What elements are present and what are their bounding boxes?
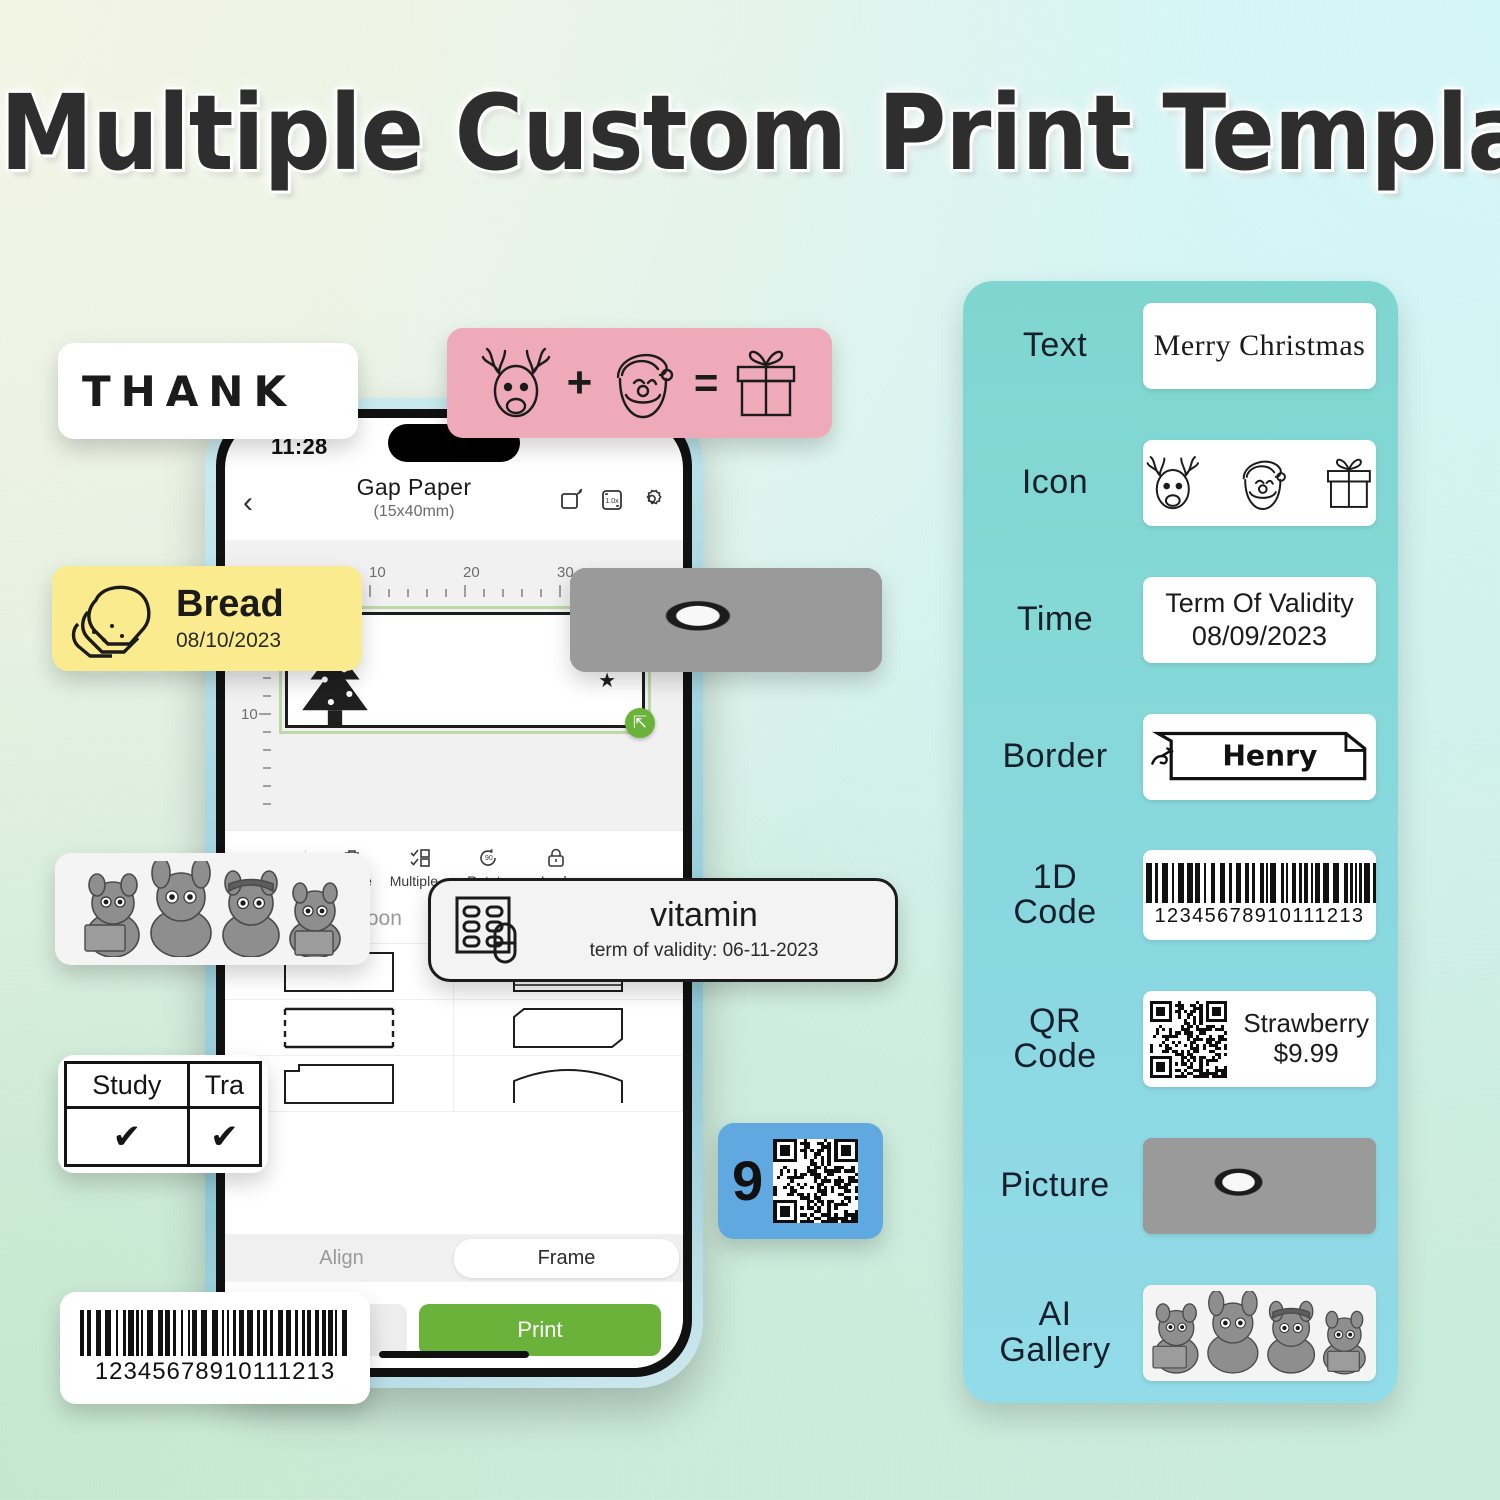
- panel-row-icon: Icon: [981, 440, 1376, 526]
- sticker-ai-gallery: [55, 853, 370, 965]
- time-date: 08/09/2023: [1192, 621, 1327, 652]
- page-title: Multiple Custom Print Templates: [0, 72, 1500, 194]
- panel-label-1d: 1D: [981, 860, 1129, 896]
- frame-shape-tab: [283, 1063, 395, 1105]
- panel-card-border[interactable]: Henry: [1143, 714, 1376, 800]
- barcode-digits: 12345678910111213: [95, 1358, 335, 1386]
- cat-photo-image: [570, 568, 882, 672]
- panel-row-text: Text Merry Christmas: [981, 303, 1376, 389]
- qr-product-name: Strawberry: [1243, 1009, 1369, 1039]
- ruler-tick-v-10: 10: [241, 706, 258, 723]
- segment-align[interactable]: Align: [229, 1239, 454, 1278]
- blue-label-number: 9: [732, 1153, 763, 1209]
- reindeer-icon: [1143, 451, 1203, 515]
- bread-title: Bread: [176, 585, 284, 623]
- ai-squirrels-illustration: [73, 861, 353, 957]
- sticker-bread-label: Bread 08/10/2023: [52, 566, 362, 671]
- qr-code-icon: [773, 1139, 858, 1224]
- segment-frame[interactable]: Frame: [454, 1239, 679, 1278]
- template-types-panel: Text Merry Christmas Icon: [963, 281, 1398, 1403]
- table-header-study: Study: [66, 1063, 189, 1108]
- panel-row-1d-code: 1D Code 12345678910111213: [981, 850, 1376, 940]
- home-indicator: [379, 1351, 529, 1358]
- panel-label-1d-code: 1D Code: [981, 860, 1129, 931]
- frame-shape-rounded: [512, 1063, 624, 1105]
- panel-card-picture[interactable]: [1143, 1138, 1376, 1234]
- panel-label-ai-gallery: AI Gallery: [981, 1297, 1129, 1368]
- panel-label-code2: Code: [981, 1039, 1129, 1075]
- barcode-bars: [1143, 863, 1376, 903]
- paper-title: Gap Paper: [269, 474, 559, 501]
- panel-row-time: Time Term Of Validity 08/09/2023: [981, 577, 1376, 663]
- rotate-90-icon: 90: [454, 846, 522, 870]
- sticker-vitamin-label: vitamin term of validity: 06-11-2023: [428, 878, 898, 982]
- panel-row-ai-gallery: AI Gallery: [981, 1285, 1376, 1381]
- poster-canvas: Multiple Custom Print Templates 11:28 ‹ …: [0, 0, 1500, 1500]
- table-row: ✔ ✔: [66, 1108, 261, 1166]
- table-cell-check-2: ✔: [188, 1108, 260, 1166]
- panel-label-text: Text: [981, 328, 1129, 364]
- multi-select-icon: [386, 846, 454, 870]
- thank-text: THANK: [82, 367, 296, 416]
- cat-photo-image: [1143, 1138, 1376, 1234]
- panel-label-qr: QR: [981, 1004, 1129, 1040]
- panel-row-picture: Picture: [981, 1138, 1376, 1234]
- panel-row-qr-code: QR Code Strawberry $9.99: [981, 991, 1376, 1087]
- sticker-cat-photo: [570, 568, 882, 672]
- sticker-christmas-equation: + =: [447, 328, 832, 438]
- frame-shape-dashed: [283, 1007, 395, 1049]
- panel-label-gallery: Gallery: [981, 1333, 1129, 1369]
- frame-shape-cut-corners: [512, 1007, 624, 1049]
- resize-handle[interactable]: ⇱: [625, 708, 655, 738]
- merry-christmas-value: Merry Christmas: [1154, 329, 1366, 363]
- panel-label-ai: AI: [981, 1297, 1129, 1333]
- sticker-blue-qr-label: 9: [718, 1123, 883, 1239]
- bread-loaf-icon: [68, 578, 164, 660]
- vitamin-text-block: vitamin term of validity: 06-11-2023: [533, 898, 875, 962]
- panel-label-time: Time: [981, 602, 1129, 638]
- panel-card-barcode[interactable]: 12345678910111213: [1143, 850, 1376, 940]
- panel-label-code: Code: [981, 895, 1129, 931]
- qr-code-icon: [1150, 1001, 1227, 1078]
- panel-card-ai-gallery[interactable]: [1143, 1285, 1376, 1381]
- santa-icon: [1233, 451, 1293, 515]
- sticker-study-table: Study Tra ✔ ✔: [58, 1055, 268, 1173]
- table-cell-check-1: ✔: [66, 1108, 189, 1166]
- panel-label-icon: Icon: [981, 465, 1129, 501]
- table-row-header: Study Tra: [66, 1063, 261, 1108]
- panel-row-border: Border Henry: [981, 714, 1376, 800]
- frame-template-grid: [225, 944, 683, 1234]
- app-navbar: ‹ Gap Paper (15x40mm) 1.0x: [225, 470, 683, 540]
- rotate-paper-icon[interactable]: [559, 486, 585, 512]
- svg-text:90: 90: [485, 855, 493, 862]
- panel-label-border: Border: [981, 739, 1129, 775]
- zoom-level-icon[interactable]: 1.0x: [599, 486, 625, 512]
- frame-option-cut-corners[interactable]: [454, 1000, 683, 1056]
- table-header-train: Tra: [188, 1063, 260, 1108]
- qr-text-block: Strawberry $9.99: [1243, 1009, 1369, 1069]
- bread-date: 08/10/2023: [176, 629, 284, 653]
- sticker-thank-label: THANK: [58, 343, 358, 439]
- sticker-barcode-label: 12345678910111213: [60, 1292, 370, 1404]
- panel-card-time[interactable]: Term Of Validity 08/09/2023: [1143, 577, 1376, 663]
- panel-card-text[interactable]: Merry Christmas: [1143, 303, 1376, 389]
- panel-label-qr-code: QR Code: [981, 1004, 1129, 1075]
- print-button[interactable]: Print: [419, 1304, 661, 1356]
- vitamin-title: vitamin: [533, 898, 875, 932]
- navbar-icons: 1.0x: [559, 474, 665, 512]
- study-table: Study Tra ✔ ✔: [64, 1061, 262, 1167]
- vitamin-validity: term of validity: 06-11-2023: [533, 940, 875, 962]
- barcode-bars: [80, 1310, 351, 1356]
- settings-gear-icon[interactable]: [639, 486, 665, 512]
- barcode-digits: 12345678910111213: [1155, 905, 1365, 928]
- paper-size: (15x40mm): [269, 503, 559, 521]
- santa-icon: [604, 343, 682, 423]
- ruler-tick-20: 20: [463, 564, 480, 581]
- frame-option-dashed-sides[interactable]: [225, 1000, 454, 1056]
- panel-card-icon[interactable]: [1143, 440, 1376, 526]
- frame-option-rounded-top[interactable]: [454, 1056, 683, 1112]
- ai-squirrels-illustration: [1143, 1291, 1376, 1375]
- panel-card-qr[interactable]: Strawberry $9.99: [1143, 991, 1376, 1087]
- qr-product-price: $9.99: [1243, 1039, 1369, 1069]
- navbar-titles: Gap Paper (15x40mm): [269, 474, 559, 521]
- border-frame-with-name: Henry: [1143, 724, 1376, 790]
- align-frame-segmented-control: Align Frame: [225, 1234, 683, 1282]
- ruler-tick-10: 10: [369, 564, 386, 581]
- time-title: Term Of Validity: [1165, 588, 1354, 619]
- gift-icon: [730, 343, 802, 423]
- plus-sign: +: [567, 358, 593, 408]
- svg-text:1.0x: 1.0x: [605, 498, 619, 505]
- panel-label-picture: Picture: [981, 1168, 1129, 1204]
- gift-icon: [1322, 451, 1376, 515]
- border-name-value: Henry: [1222, 739, 1317, 772]
- equals-sign: =: [694, 359, 719, 407]
- reindeer-icon: [477, 343, 555, 423]
- lock-icon: [522, 846, 590, 870]
- pill-blister-icon: [451, 892, 525, 968]
- star-small-icon: ★: [598, 671, 616, 691]
- bread-text-block: Bread 08/10/2023: [176, 585, 284, 653]
